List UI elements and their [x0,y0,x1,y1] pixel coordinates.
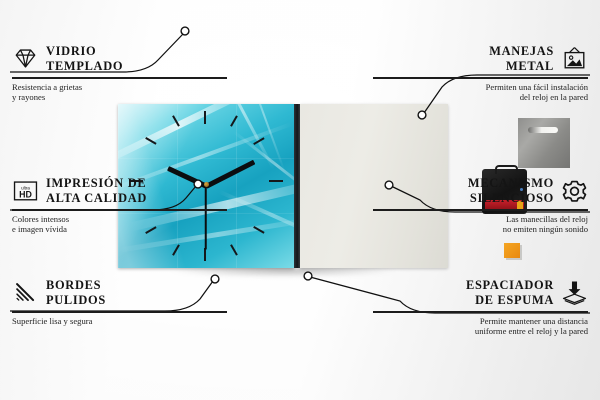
infographic-canvas: VIDRIO TEMPLADO Resistencia a grietas y … [0,0,600,400]
feature-description: Superficie lisa y segura [12,316,227,326]
feature-espaciador-espuma[interactable]: ESPACIADOR DE ESPUMA Permite mantener un… [373,278,588,337]
feature-rule [373,209,588,210]
arrow-down-pad-icon [561,279,588,306]
leader-dot-6 [304,272,312,280]
feature-manejas-metal[interactable]: MANEJAS METAL Permiten una fácil instala… [373,44,588,103]
svg-text:HD: HD [19,189,32,199]
feature-mecanismo-silencioso[interactable]: MECANISMO SILENCIOSO Las manecillas del … [373,176,588,235]
feature-title: MECANISMO SILENCIOSO [468,176,554,205]
feature-description: Permite mantener una distancia uniforme … [373,316,588,337]
feature-description: Colores intensos e imagen vívida [12,214,227,235]
feature-description: Las manecillas del reloj no emiten ningú… [373,214,588,235]
feature-title: BORDES PULIDOS [46,278,106,307]
diamond-icon [12,45,39,72]
picture-frame-icon [561,45,588,72]
feature-vidrio-templado[interactable]: VIDRIO TEMPLADO Resistencia a grietas y … [12,44,227,103]
feature-title: MANEJAS METAL [489,44,554,73]
feature-bordes-pulidos[interactable]: BORDES PULIDOS Superficie lisa y segura [12,278,227,326]
feature-title: VIDRIO TEMPLADO [46,44,123,73]
leader-dot-4 [418,111,426,119]
feature-title: IMPRESIÓN DE ALTA CALIDAD [46,176,147,205]
diagonal-stripes-icon [12,279,39,306]
feature-rule [12,209,227,210]
feature-description: Resistencia a grietas y rayones [12,82,227,103]
ultra-hd-icon: ultra HD [12,177,39,204]
feature-title: ESPACIADOR DE ESPUMA [466,278,554,307]
feature-rule [12,311,227,312]
feature-impresion-alta-calidad[interactable]: ultra HD IMPRESIÓN DE ALTA CALIDAD Color… [12,176,227,235]
feature-rule [373,77,588,78]
leader-dot-1 [181,27,189,35]
feature-description: Permiten una fácil instalación del reloj… [373,82,588,103]
gear-icon [561,177,588,204]
feature-rule [373,311,588,312]
feature-rule [12,77,227,78]
